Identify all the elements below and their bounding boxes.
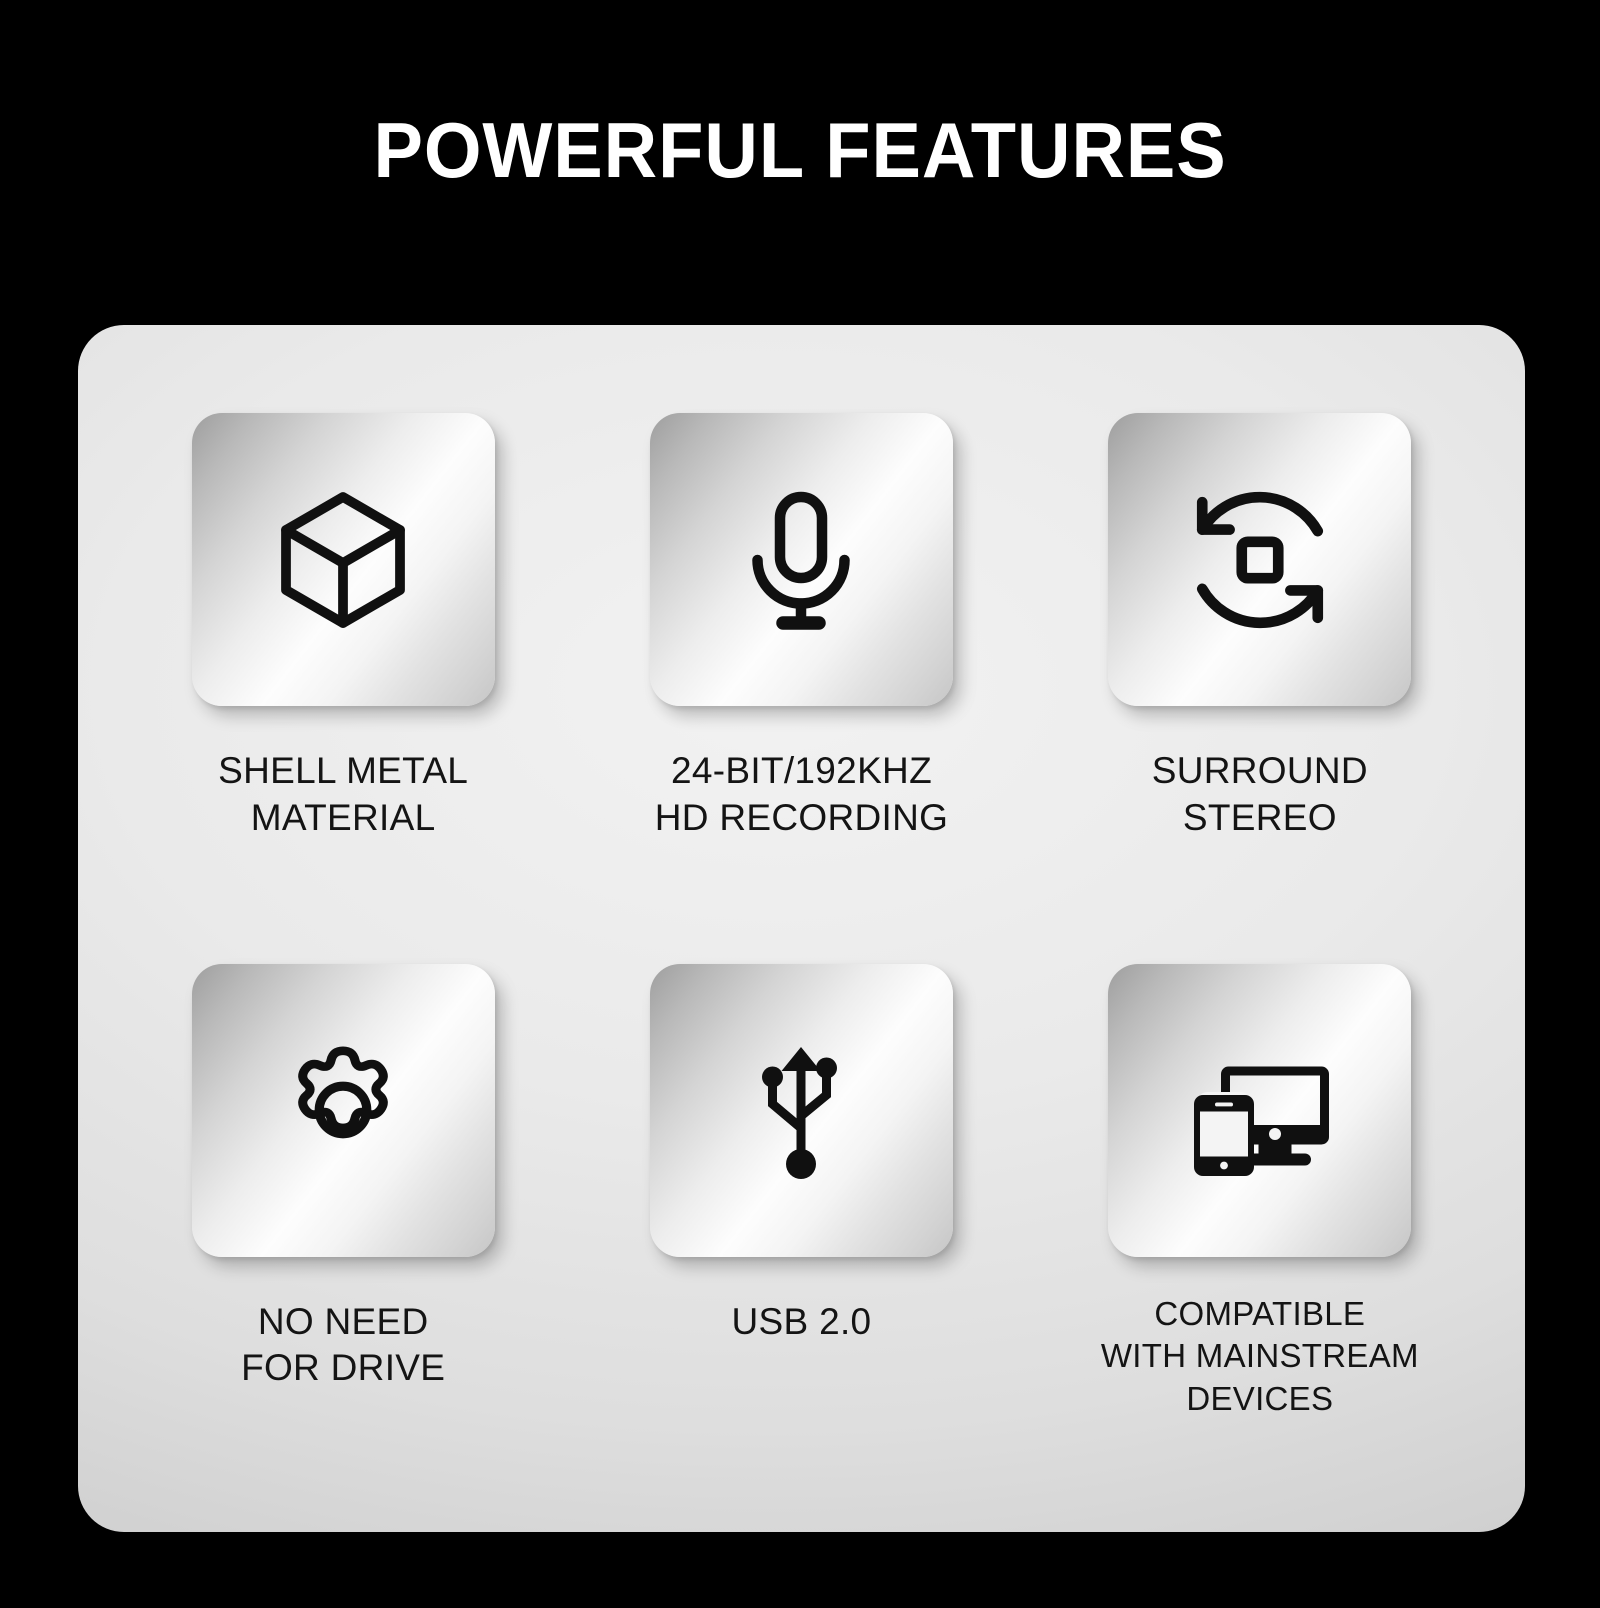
gear-icon [273, 1040, 413, 1180]
feature-hd-recording: 24-BIT/192KHZ HD RECORDING [572, 413, 1030, 946]
microphone-icon [726, 485, 876, 635]
usb-icon [726, 1035, 876, 1185]
feature-tile [192, 964, 495, 1257]
feature-tile [650, 413, 953, 706]
feature-graphic: POWERFUL FEATURES SHELL METAL MATERIAL [0, 0, 1600, 1608]
feature-shell-metal-material: SHELL METAL MATERIAL [114, 413, 572, 946]
feature-tile [1108, 413, 1411, 706]
feature-surround-stereo: SURROUND STEREO [1031, 413, 1489, 946]
features-grid: SHELL METAL MATERIAL 24-BIT/192KHZ HD RE… [78, 325, 1525, 1532]
title-bar: POWERFUL FEATURES [0, 0, 1600, 300]
feature-label: NO NEED FOR DRIVE [241, 1299, 445, 1392]
features-panel: SHELL METAL MATERIAL 24-BIT/192KHZ HD RE… [78, 325, 1525, 1532]
feature-label: COMPATIBLE WITH MAINSTREAM DEVICES [1101, 1293, 1419, 1422]
cube-icon [268, 485, 418, 635]
page-title: POWERFUL FEATURES [373, 111, 1226, 189]
feature-label: 24-BIT/192KHZ HD RECORDING [655, 748, 948, 841]
feature-compatible-devices: COMPATIBLE WITH MAINSTREAM DEVICES [1031, 946, 1489, 1479]
feature-no-need-for-drive: NO NEED FOR DRIVE [114, 946, 572, 1479]
feature-tile [650, 964, 953, 1257]
feature-label: USB 2.0 [732, 1299, 872, 1346]
feature-label: SURROUND STEREO [1152, 748, 1368, 841]
feature-tile [192, 413, 495, 706]
feature-label: SHELL METAL MATERIAL [218, 748, 468, 841]
feature-usb: USB 2.0 [572, 946, 1030, 1479]
devices-icon [1185, 1035, 1335, 1185]
rotate-surround-icon [1184, 484, 1336, 636]
feature-tile [1108, 964, 1411, 1257]
